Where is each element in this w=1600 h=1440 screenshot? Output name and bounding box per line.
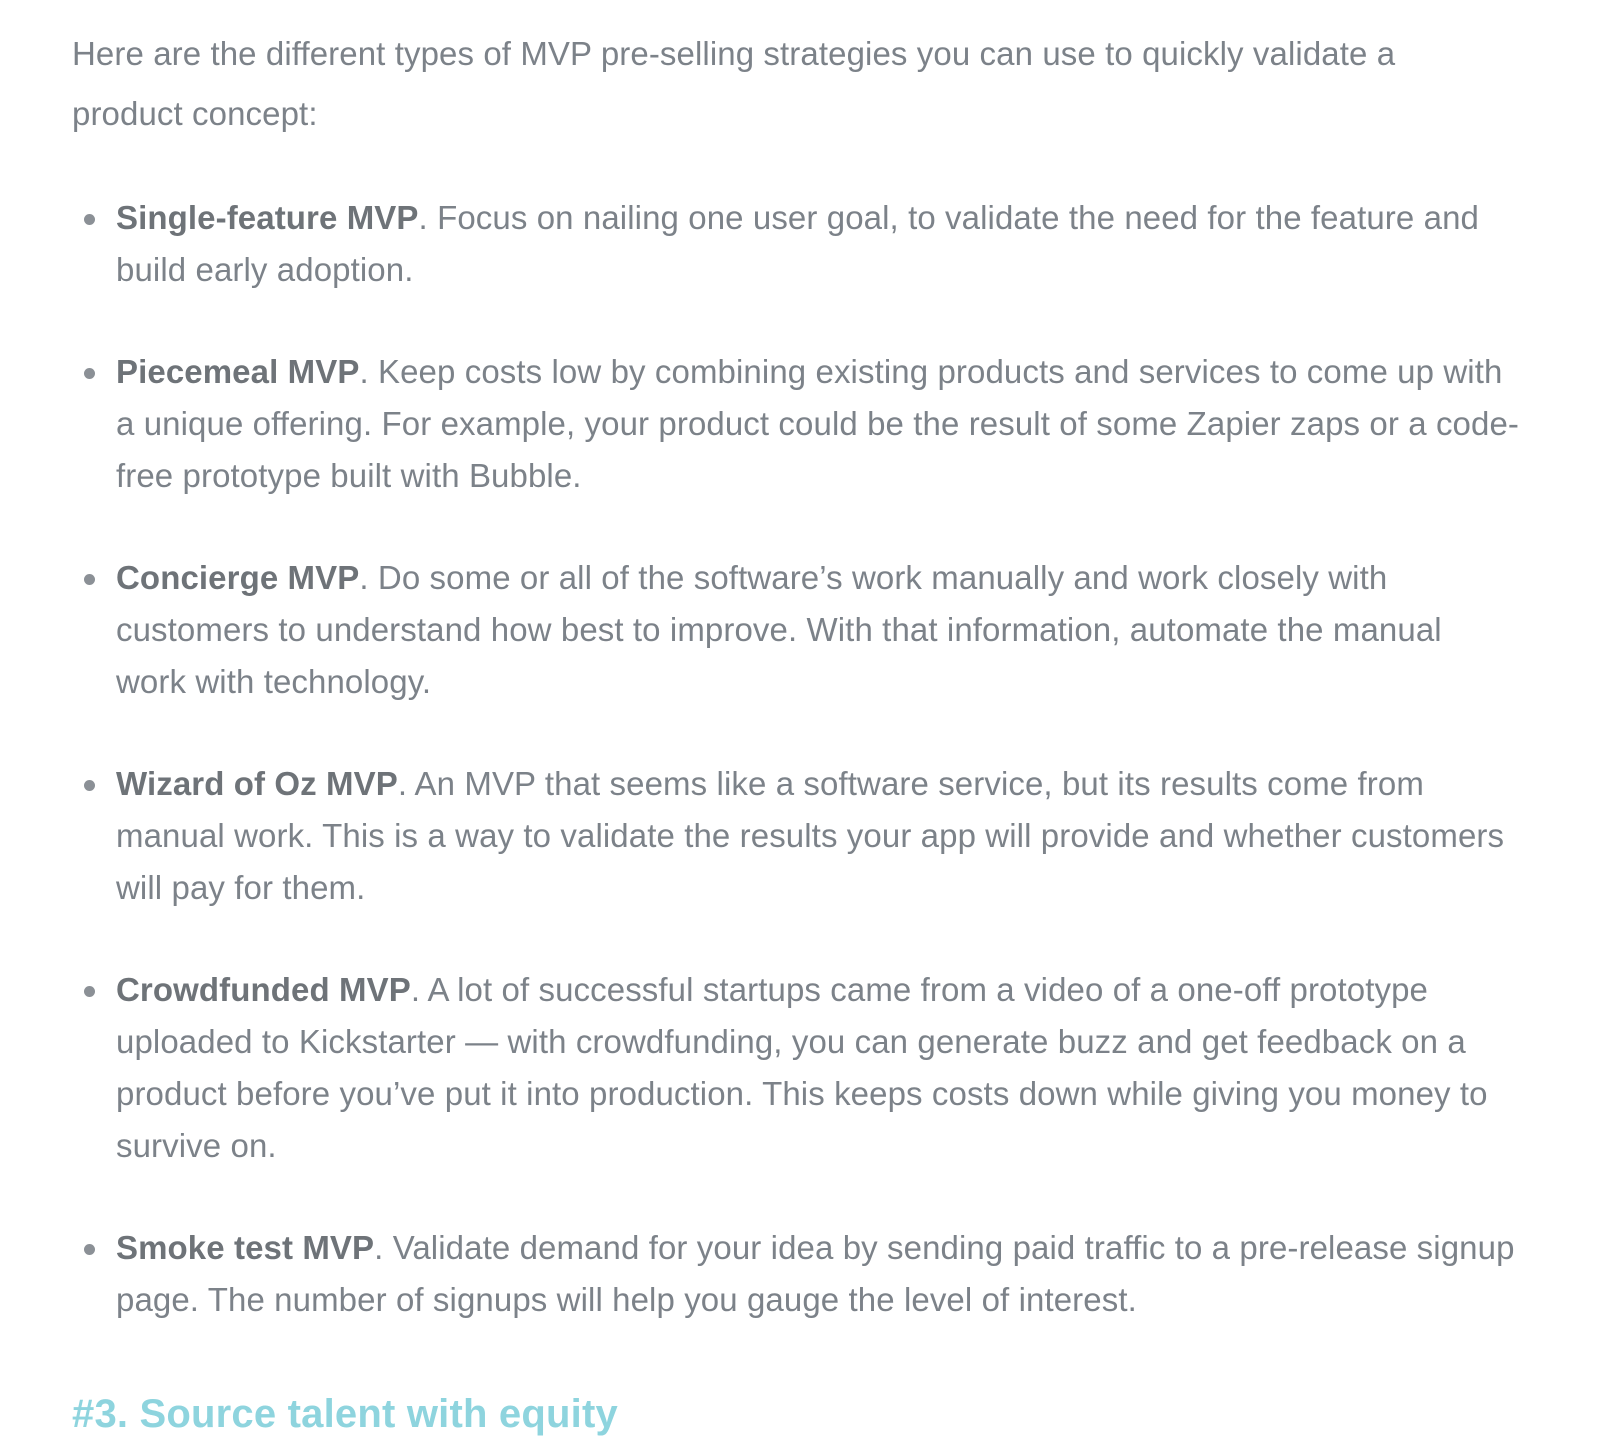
article-body: Here are the different types of MVP pre-…: [0, 0, 1600, 1440]
list-item: Crowdfunded MVP. A lot of successful sta…: [72, 964, 1520, 1172]
list-item: Wizard of Oz MVP. An MVP that seems like…: [72, 758, 1520, 914]
bullet-dot-icon: [84, 780, 95, 791]
list-item-term: Smoke test MVP: [116, 1229, 374, 1266]
list-item: Smoke test MVP. Validate demand for your…: [72, 1222, 1520, 1326]
intro-paragraph: Here are the different types of MVP pre-…: [72, 24, 1502, 144]
list-item-term: Crowdfunded MVP: [116, 971, 411, 1008]
list-item-term: Concierge MVP: [116, 559, 359, 596]
bullet-dot-icon: [84, 214, 95, 225]
section-heading: #3. Source talent with equity: [72, 1388, 1520, 1440]
mvp-strategy-list: Single-feature MVP. Focus on nailing one…: [72, 192, 1520, 1326]
list-item: Single-feature MVP. Focus on nailing one…: [72, 192, 1520, 296]
bullet-dot-icon: [84, 368, 95, 379]
bullet-dot-icon: [84, 986, 95, 997]
list-item-term: Wizard of Oz MVP: [116, 765, 398, 802]
bullet-dot-icon: [84, 574, 95, 585]
list-item: Concierge MVP. Do some or all of the sof…: [72, 552, 1520, 708]
bullet-dot-icon: [84, 1244, 95, 1255]
list-item-term: Piecemeal MVP: [116, 353, 359, 390]
list-item-term: Single-feature MVP: [116, 199, 419, 236]
list-item: Piecemeal MVP. Keep costs low by combini…: [72, 346, 1520, 502]
